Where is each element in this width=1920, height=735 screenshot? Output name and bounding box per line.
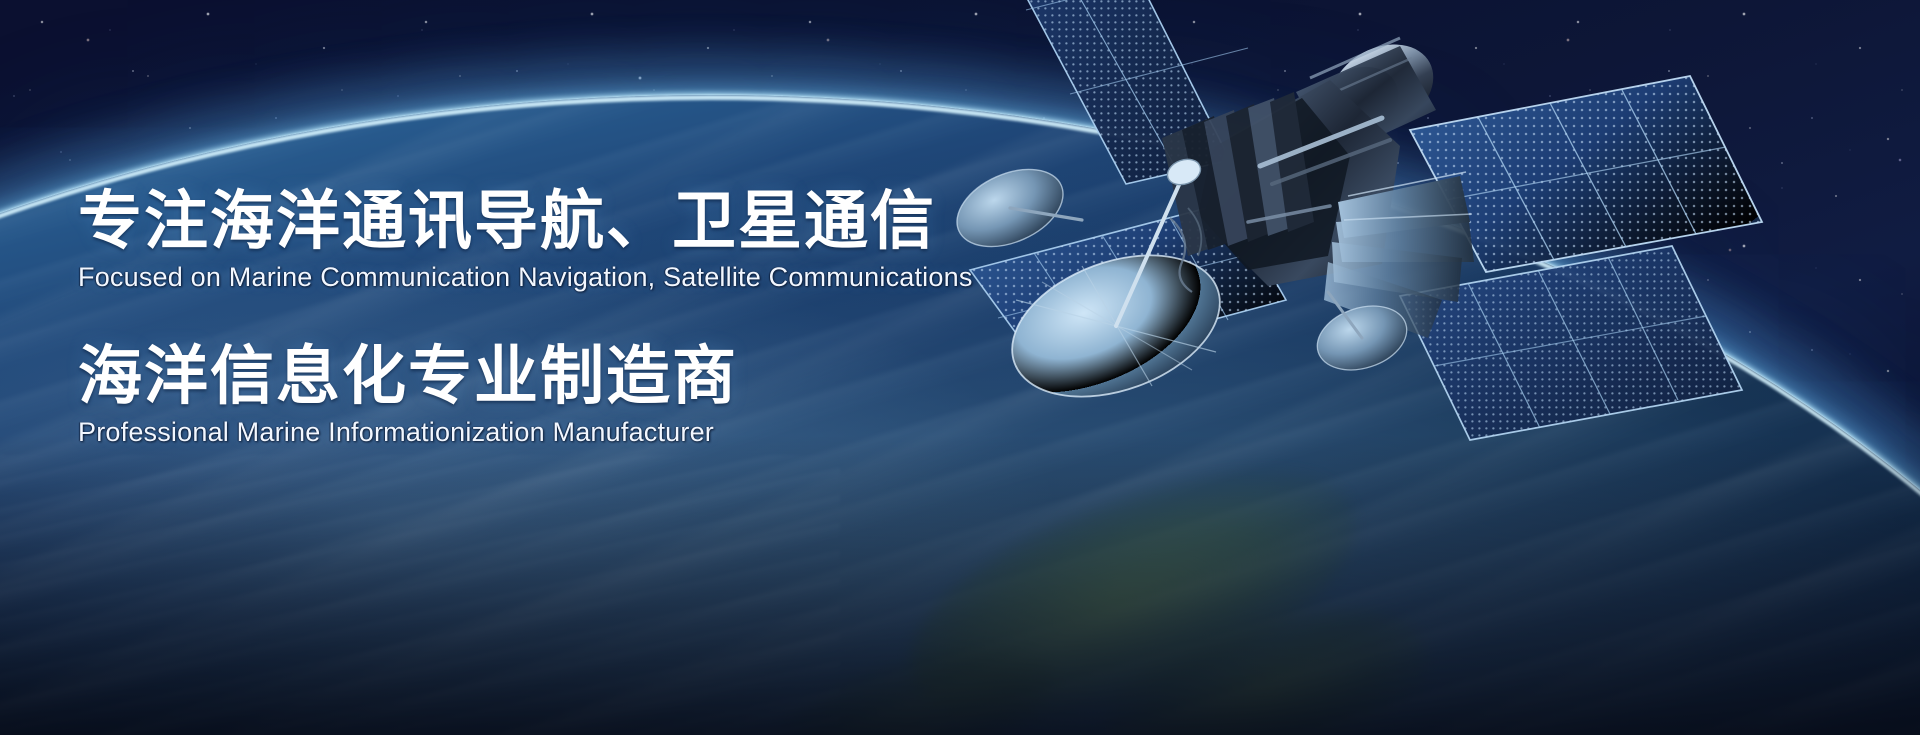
bottom-vignette: [0, 435, 1920, 735]
earth-terrain-streaks: [0, 455, 840, 735]
satellite-ribs: [1162, 92, 1314, 256]
headline-primary: 专注海洋通讯导航、卫星通信: [78, 188, 1058, 256]
satellite-radiator-fan: [1324, 172, 1474, 338]
satellite-antenna-mast: [1248, 118, 1390, 222]
satellite-thruster-module: [1296, 27, 1448, 158]
dish-feed-arm: [1116, 178, 1182, 326]
banner-copy: 专注海洋通讯导航、卫星通信 Focused on Marine Communic…: [78, 188, 1058, 448]
satellite-cabling: [1170, 208, 1201, 292]
dish-feed-horn: [1164, 155, 1204, 189]
solar-panel-right-upper: [1410, 76, 1762, 272]
satellite-dish-small: [1309, 292, 1415, 381]
earth-landmass-primary: [881, 429, 1389, 735]
solar-panel-upper-left: [948, 0, 1248, 184]
earth-landmass-tertiary: [761, 624, 1070, 735]
solar-panel-right-lower: [1400, 246, 1742, 440]
earth-landmass-secondary: [1087, 575, 1444, 735]
solar-panel-boom-left: [1230, 166, 1282, 202]
satellite-body: [1162, 27, 1474, 338]
satellite-core: [1202, 80, 1400, 286]
hero-banner: 专注海洋通讯导航、卫星通信 Focused on Marine Communic…: [0, 0, 1920, 735]
headline-block-1: 专注海洋通讯导航、卫星通信 Focused on Marine Communic…: [78, 188, 1058, 293]
headline-block-2: 海洋信息化专业制造商 Professional Marine Informati…: [78, 343, 1058, 448]
subheadline-secondary: Professional Marine Informationization M…: [78, 417, 1058, 448]
headline-secondary: 海洋信息化专业制造商: [78, 343, 1058, 411]
communications-satellite: [930, 0, 1920, 440]
subheadline-primary: Focused on Marine Communication Navigati…: [78, 262, 1058, 293]
